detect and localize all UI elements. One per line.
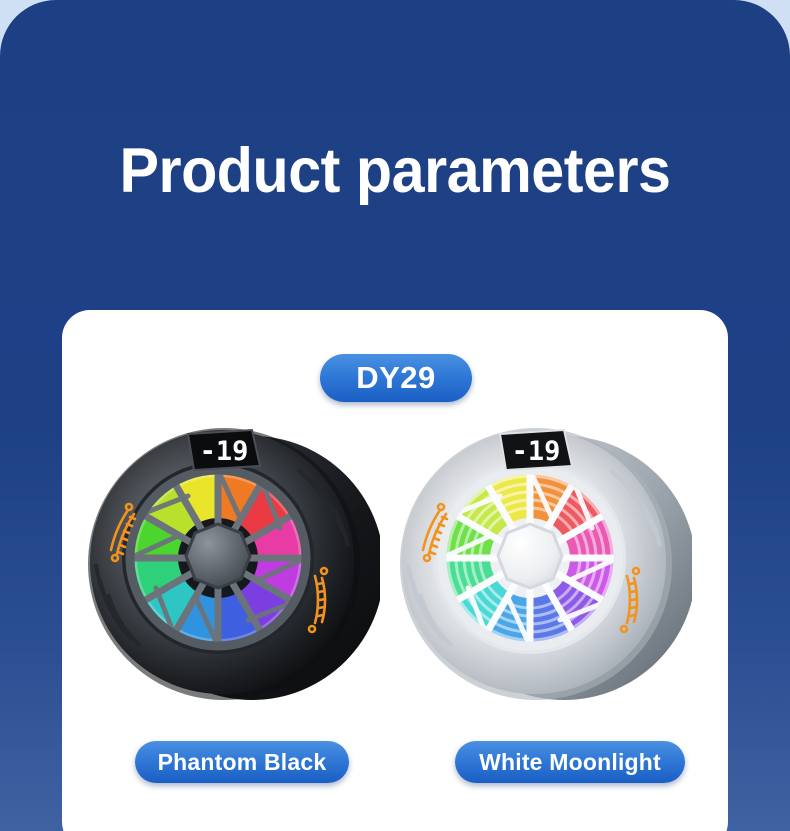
product-parameters-page: Product parameters DY29 (0, 0, 790, 831)
variant-label-phantom-black: Phantom Black (135, 741, 349, 783)
cooler-illustration: -19 (396, 418, 692, 720)
page-title: Product parameters (24, 140, 767, 203)
cooler-illustration: -19 (84, 418, 380, 720)
variant-label-white-moonlight: White Moonlight (455, 741, 685, 783)
fan-center-hub (498, 524, 562, 588)
product-image-white-moonlight: -19 (396, 418, 692, 720)
led-display-value: -19 (200, 436, 249, 467)
product-image-phantom-black: -19 (84, 418, 380, 720)
led-display: -19 (500, 430, 572, 470)
model-badge: DY29 (320, 354, 472, 402)
fan-center-hub (186, 524, 250, 588)
led-display-value: -19 (512, 436, 561, 467)
led-display: -19 (188, 430, 260, 470)
